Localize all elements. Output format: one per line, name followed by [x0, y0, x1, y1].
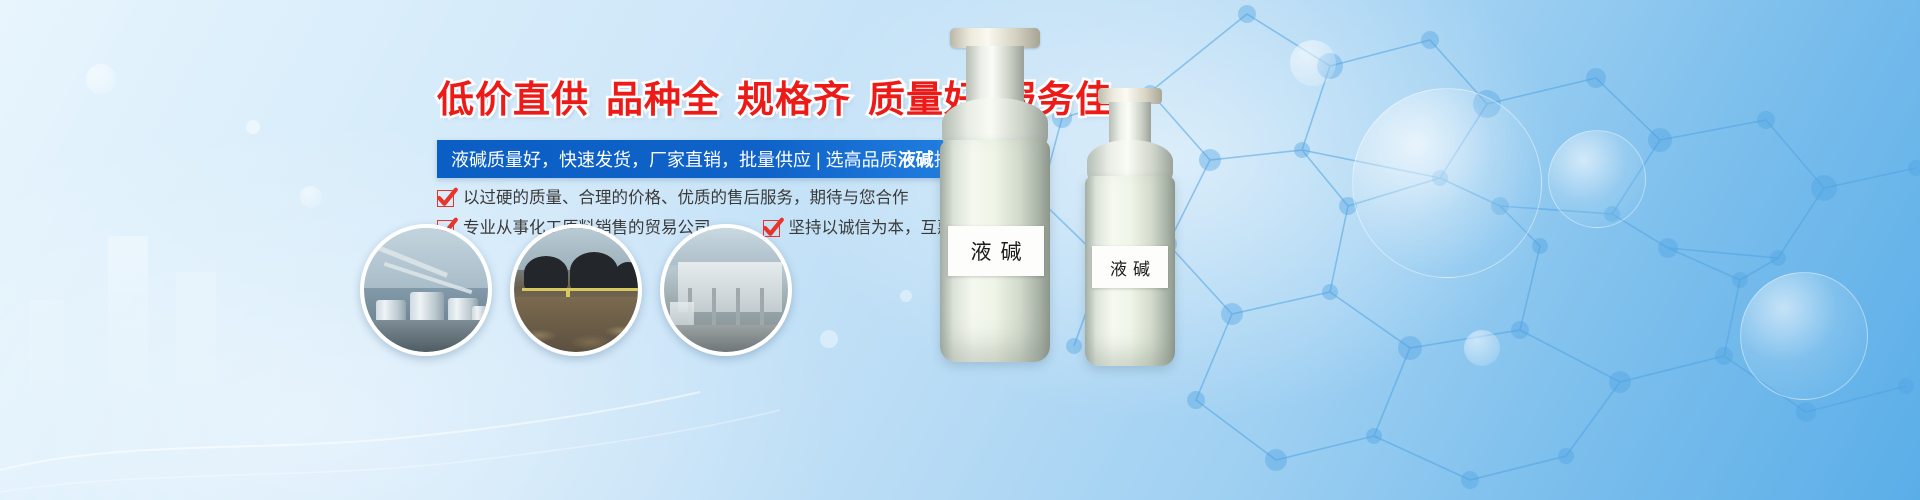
headline-segment-2: 规格齐: [737, 79, 851, 120]
feature-item-label: 以过硬的质量、合理的价格、优质的售后服务，期待与您合作: [463, 190, 909, 207]
photo-storage-tanks[interactable]: [360, 224, 492, 356]
bottle-large: 液碱: [930, 28, 1060, 368]
bottle-small-label-text: 液碱: [1104, 255, 1156, 280]
photo-plant-building-image: [664, 228, 788, 352]
feature-row-1: 以过硬的质量、合理的价格、优质的售后服务，期待与您合作: [437, 190, 909, 207]
subtitle-text-strong: 液碱: [898, 146, 934, 172]
subtitle-text-plain: 液碱质量好，快速发货，厂家直销，批量供应 | 选高品质: [451, 146, 898, 172]
feature-item-quality: 以过硬的质量、合理的价格、优质的售后服务，期待与您合作: [437, 190, 909, 207]
bottle-large-label: 液碱: [948, 226, 1044, 276]
bottle-small: 液碱: [1078, 88, 1182, 374]
headline-segment-0: 低价直供: [437, 79, 589, 120]
photo-storage-tanks-image: [364, 228, 488, 352]
check-icon: [437, 190, 454, 207]
bottle-large-neck: [966, 46, 1024, 104]
headline-segment-1: 品种全: [606, 79, 720, 120]
photo-dome-tanks-image: [514, 228, 638, 352]
bottle-large-cap: [950, 28, 1040, 48]
promo-banner: 低价直供品种全规格齐质量好服务佳 液碱质量好，快速发货，厂家直销，批量供应 | …: [0, 0, 1920, 500]
subtitle-bar: 液碱质量好，快速发货，厂家直销，批量供应 | 选高品质液碱找我们: [437, 140, 1002, 178]
bottle-small-label: 液碱: [1092, 246, 1168, 288]
photo-dome-tanks[interactable]: [510, 224, 642, 356]
photo-plant-building[interactable]: [660, 224, 792, 356]
bottle-large-label-text: 液碱: [962, 236, 1031, 266]
